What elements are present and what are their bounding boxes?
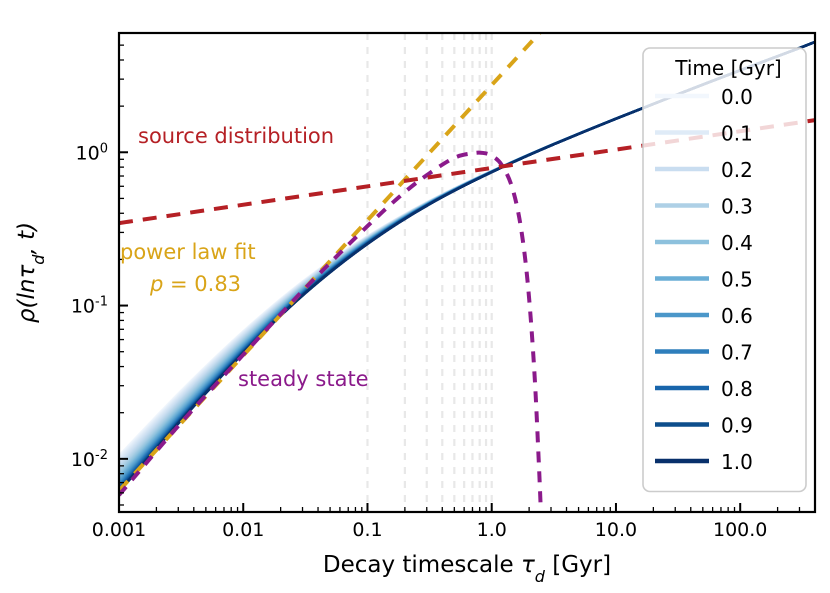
power-law-p-annotation: p = 0.83 <box>149 272 241 296</box>
x-tick-label-2: 0.1 <box>352 519 382 541</box>
legend-label-0.8: 0.8 <box>721 377 753 401</box>
x-tick-label-0: 0.001 <box>92 519 146 541</box>
legend-label-0.7: 0.7 <box>721 341 753 365</box>
legend-label-0.5: 0.5 <box>721 268 753 292</box>
legend-label-1.0: 1.0 <box>721 450 753 474</box>
x-tick-label-5: 100.0 <box>713 519 767 541</box>
x-tick-label-3: 1.0 <box>477 519 507 541</box>
plot-svg: 0.0010.010.11.010.0100.010010-110-2Decay… <box>0 0 830 593</box>
source-distribution-annotation: source distribution <box>138 124 334 148</box>
legend-label-0.4: 0.4 <box>721 231 753 255</box>
power-law-fit-annotation: power law fit <box>120 240 256 264</box>
y-tick-label-1: 10-1 <box>71 294 108 318</box>
x-axis-label: Decay timescale τd [Gyr] <box>323 552 611 586</box>
y-axis-label: ρ(lnτd, t) <box>14 222 48 323</box>
y-tick-label-2: 10-2 <box>71 447 108 471</box>
legend-label-0.3: 0.3 <box>721 195 753 219</box>
x-tick-label-1: 0.01 <box>222 519 264 541</box>
legend: Time [Gyr]0.00.10.20.30.40.50.60.70.80.9… <box>643 48 806 492</box>
y-tick-label-0: 100 <box>76 141 108 165</box>
legend-label-0.0: 0.0 <box>721 85 753 109</box>
legend-label-0.6: 0.6 <box>721 304 753 328</box>
legend-label-0.1: 0.1 <box>721 122 753 146</box>
legend-title: Time [Gyr] <box>674 56 781 80</box>
legend-label-0.9: 0.9 <box>721 414 753 438</box>
x-tick-label-4: 10.0 <box>595 519 637 541</box>
figure-canvas: 0.0010.010.11.010.0100.010010-110-2Decay… <box>0 0 830 593</box>
steady-state-annotation: steady state <box>238 367 369 391</box>
legend-label-0.2: 0.2 <box>721 158 753 182</box>
